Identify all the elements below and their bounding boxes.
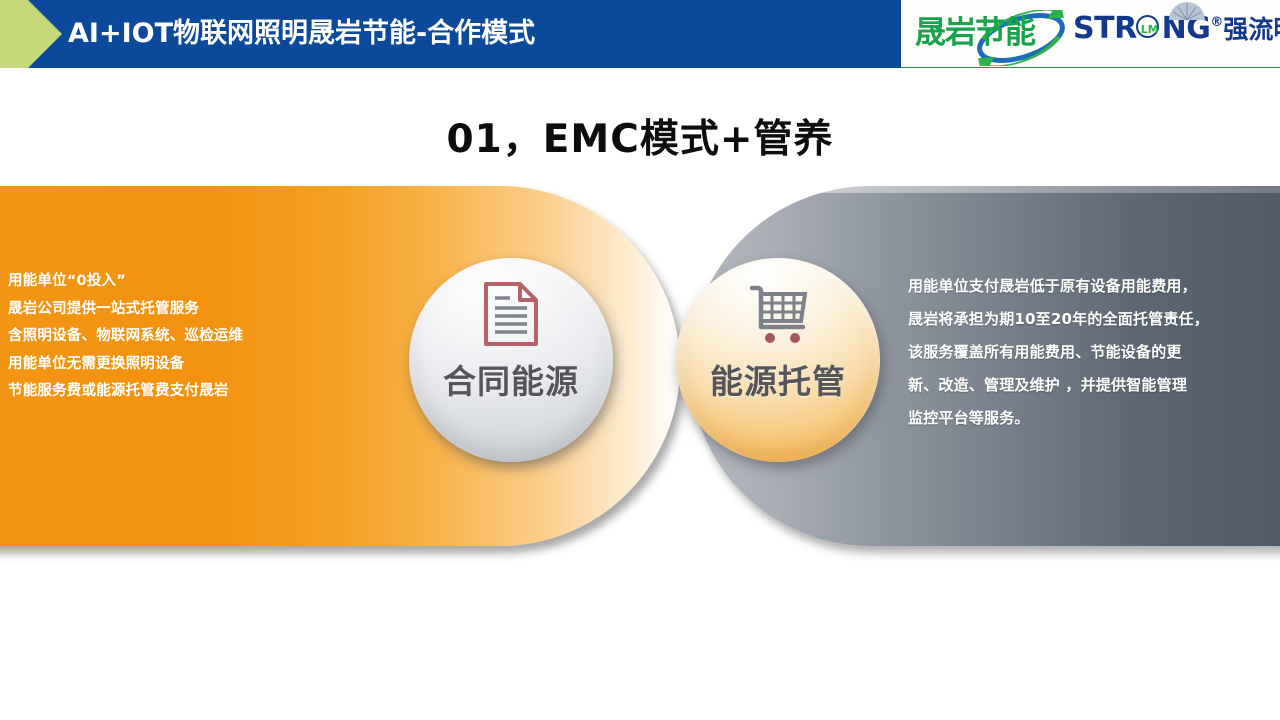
circle-label: 合同能源 bbox=[409, 355, 613, 403]
lm-circle-icon: LM bbox=[1136, 15, 1163, 42]
list-item: 节能服务费或能源托管费支付晟岩 bbox=[8, 378, 358, 406]
section-title: 01，EMC模式+管养 bbox=[0, 108, 1280, 164]
page-title: AI+IOT物联网照明晟岩节能-合作模式 bbox=[68, 11, 868, 57]
list-item: 用能单位无需更换照明设备 bbox=[8, 351, 358, 379]
brand-chinese-name: 强流明照明 bbox=[1223, 15, 1280, 44]
logo-brand-mark: STRLMNG®强流明照明 bbox=[1073, 10, 1280, 56]
fan-arc-icon bbox=[1167, 1, 1207, 25]
lm-text: LM bbox=[1136, 15, 1164, 43]
list-item: 用能单位支付晟岩低于原有设备用能费用， bbox=[908, 270, 1274, 303]
document-icon bbox=[409, 278, 613, 350]
panel-sheen bbox=[690, 186, 1280, 193]
circle-contract-energy[interactable]: 合同能源 bbox=[409, 258, 613, 462]
circle-energy-trusteeship[interactable]: 能源托管 bbox=[676, 258, 880, 462]
list-item: 监控平台等服务。 bbox=[908, 402, 1274, 435]
logo-company-name: 晟岩节能 bbox=[915, 16, 1035, 50]
list-item: 晟岩将承担为期10至20年的全面托管责任， bbox=[908, 303, 1274, 336]
left-bullet-list: 用能单位“0投入” 晟岩公司提供一站式托管服务 含照明设备、物联网系统、巡检运维… bbox=[8, 268, 358, 406]
brand-text-part1: STR bbox=[1073, 11, 1137, 46]
list-item: 用能单位“0投入” bbox=[8, 268, 358, 296]
slide-header: AI+IOT物联网照明晟岩节能-合作模式 晟岩节能 bbox=[0, 0, 1280, 72]
chevron-right-icon bbox=[0, 0, 66, 68]
logo-zone: 晟岩节能 STRLMNG®强流明照明 bbox=[901, 0, 1280, 68]
shopping-cart-icon bbox=[676, 278, 880, 350]
registered-mark: ® bbox=[1210, 15, 1223, 30]
list-item: 该服务覆盖所有用能费用、节能设备的更 bbox=[908, 336, 1274, 369]
list-item: 含照明设备、物联网系统、巡检运维 bbox=[8, 323, 358, 351]
list-item: 晟岩公司提供一站式托管服务 bbox=[8, 296, 358, 324]
right-paragraph: 用能单位支付晟岩低于原有设备用能费用， 晟岩将承担为期10至20年的全面托管责任… bbox=[908, 270, 1274, 435]
logo-chinese-mark: 晟岩节能 bbox=[911, 8, 1071, 58]
list-item: 新、改造、管理及维护 ，并提供智能管理 bbox=[908, 369, 1274, 402]
circle-label: 能源托管 bbox=[676, 355, 880, 403]
